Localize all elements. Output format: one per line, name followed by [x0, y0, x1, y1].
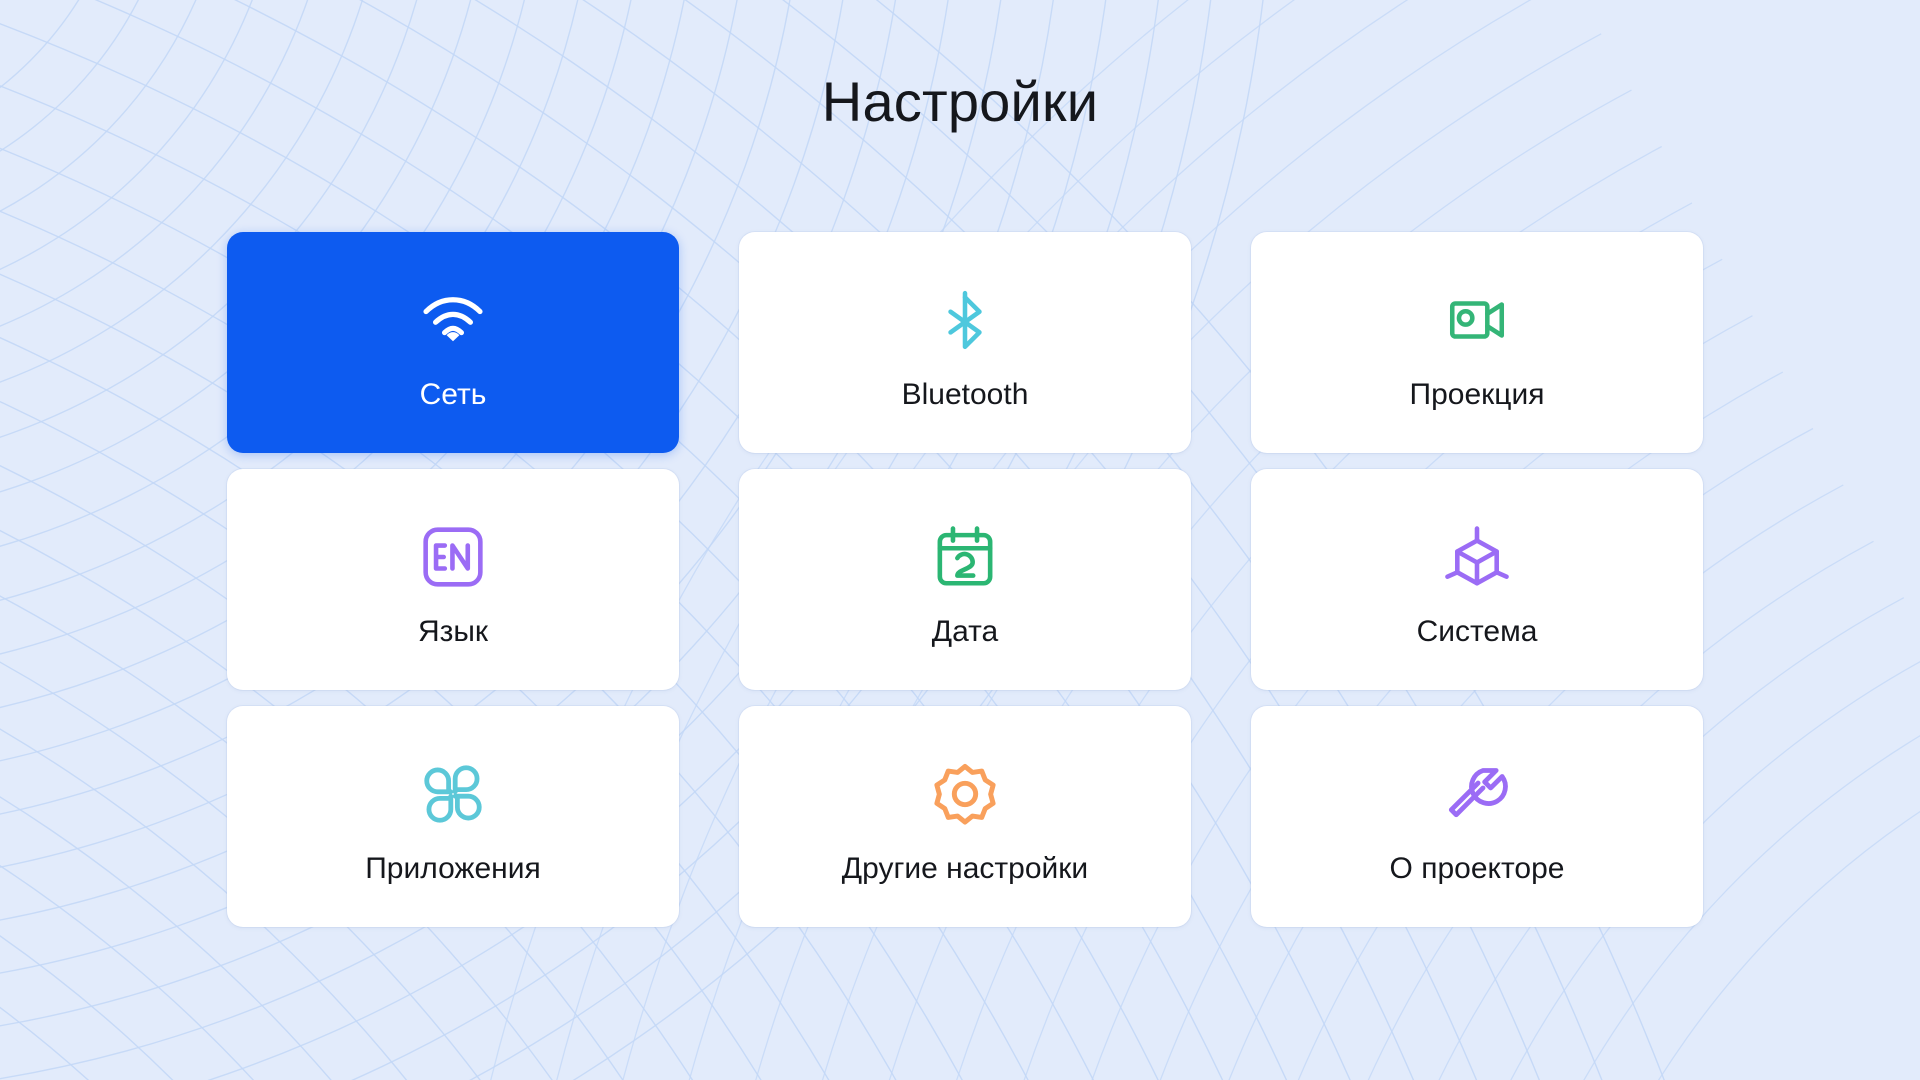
- wifi-icon: [415, 282, 491, 358]
- settings-tile-date[interactable]: Дата: [739, 469, 1191, 690]
- settings-tile-label: Приложения: [365, 854, 541, 884]
- settings-grid: Сеть Bluetooth Проекция Язык Дата Систем…: [227, 232, 1703, 927]
- settings-tile-label: Система: [1417, 617, 1538, 647]
- settings-tile-network[interactable]: Сеть: [227, 232, 679, 453]
- language-en-icon: [415, 519, 491, 595]
- bluetooth-icon: [927, 282, 1003, 358]
- settings-tile-about-projector[interactable]: О проекторе: [1251, 706, 1703, 927]
- settings-tile-label: Сеть: [420, 380, 487, 410]
- cube-icon: [1439, 519, 1515, 595]
- settings-tile-label: Дата: [932, 617, 998, 647]
- settings-tile-label: Bluetooth: [902, 380, 1029, 410]
- settings-screen: Настройки Сеть Bluetooth Проекция Язык Д…: [0, 0, 1920, 1080]
- apps-clover-icon: [415, 756, 491, 832]
- settings-tile-label: Язык: [418, 617, 488, 647]
- video-camera-icon: [1439, 282, 1515, 358]
- settings-tile-language[interactable]: Язык: [227, 469, 679, 690]
- settings-tile-label: Другие настройки: [842, 854, 1088, 884]
- settings-tile-label: О проекторе: [1390, 854, 1565, 884]
- settings-tile-projection[interactable]: Проекция: [1251, 232, 1703, 453]
- wrench-icon: [1439, 756, 1515, 832]
- settings-tile-apps[interactable]: Приложения: [227, 706, 679, 927]
- settings-tile-other-settings[interactable]: Другие настройки: [739, 706, 1191, 927]
- calendar-icon: [927, 519, 1003, 595]
- page-title: Настройки: [0, 68, 1920, 135]
- settings-tile-system[interactable]: Система: [1251, 469, 1703, 690]
- settings-tile-bluetooth[interactable]: Bluetooth: [739, 232, 1191, 453]
- gear-icon: [927, 756, 1003, 832]
- settings-tile-label: Проекция: [1410, 380, 1545, 410]
